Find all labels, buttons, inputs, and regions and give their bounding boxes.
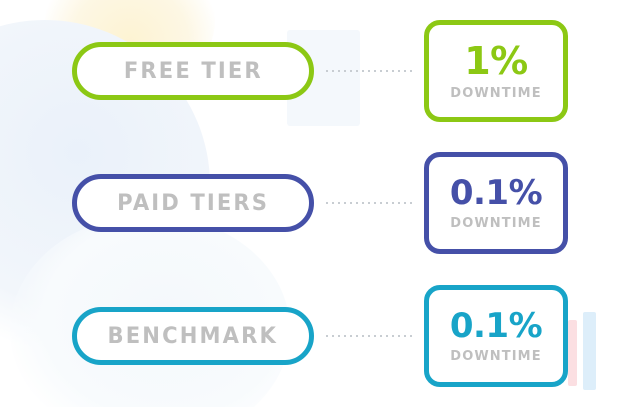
- dotted-connector: [326, 70, 414, 72]
- infographic-canvas: FREE TIER 1% DOWNTIME PAID TIERS 0.1% DO…: [0, 0, 631, 407]
- tier-pill-label: PAID TIERS: [117, 191, 269, 216]
- tier-pill-paid[interactable]: PAID TIERS: [72, 174, 314, 232]
- downtime-value: 0.1%: [450, 309, 542, 343]
- dotted-connector: [326, 202, 414, 204]
- downtime-badge-paid[interactable]: 0.1% DOWNTIME: [424, 152, 568, 254]
- tier-pill-label: BENCHMARK: [108, 324, 278, 349]
- downtime-caption: DOWNTIME: [450, 216, 541, 231]
- downtime-badge-free[interactable]: 1% DOWNTIME: [424, 20, 568, 122]
- tier-pill-benchmark[interactable]: BENCHMARK: [72, 307, 314, 365]
- downtime-badge-benchmark[interactable]: 0.1% DOWNTIME: [424, 285, 568, 387]
- downtime-value: 1%: [464, 42, 528, 80]
- dotted-connector: [326, 335, 414, 337]
- tier-pill-label: FREE TIER: [124, 59, 263, 84]
- tier-row-free: FREE TIER 1% DOWNTIME: [0, 16, 631, 126]
- tier-row-benchmark: BENCHMARK 0.1% DOWNTIME: [0, 281, 631, 391]
- tier-pill-free[interactable]: FREE TIER: [72, 42, 314, 100]
- downtime-caption: DOWNTIME: [450, 86, 541, 101]
- downtime-value: 0.1%: [450, 176, 542, 210]
- downtime-caption: DOWNTIME: [450, 349, 541, 364]
- tier-row-paid: PAID TIERS 0.1% DOWNTIME: [0, 148, 631, 258]
